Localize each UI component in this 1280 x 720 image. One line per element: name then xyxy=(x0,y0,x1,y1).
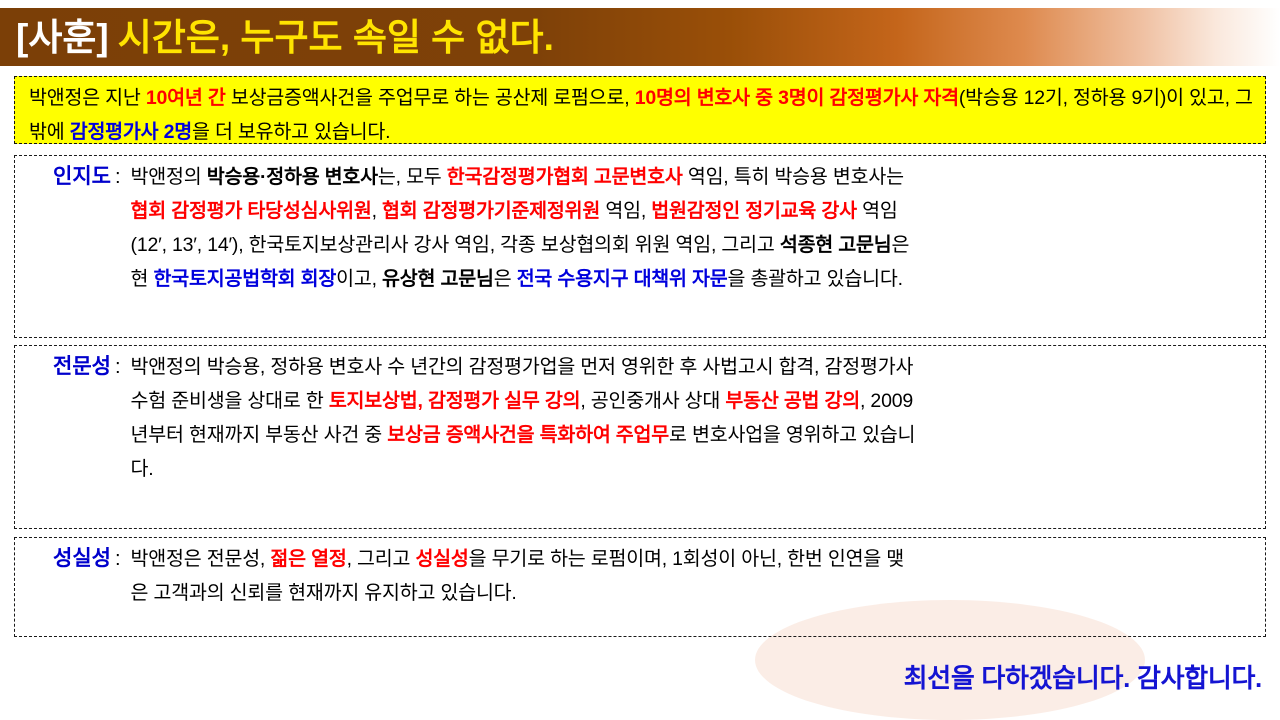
text-run: 로 변호사업을 영위하고 있습니 xyxy=(669,424,915,446)
criteria-colon-expertise: : xyxy=(115,350,131,384)
text-line: 현 한국토지공법학회 회장이고, 유상현 고문님은 전국 수용지구 대책위 자문… xyxy=(131,262,1255,296)
text-line: 박앤정의 박승용·정하용 변호사는, 모두 한국감정평가협회 고문변호사 역임,… xyxy=(131,160,1255,194)
text-run: 한국감정평가협회 고문변호사 xyxy=(447,166,683,188)
firm-summary-text: 박앤정은 지난 10여년 간 보상금증액사건을 주업무로 하는 공산제 로펌으로… xyxy=(29,81,1255,149)
text-run: 석종현 고문님 xyxy=(780,234,892,256)
page-title: [사훈]시간은, 누구도 속일 수 없다. xyxy=(0,19,554,56)
criteria-label-recognition: 인지도 xyxy=(27,160,115,194)
text-line: 박앤정의 박승용, 정하용 변호사 수 년간의 감정평가업을 먼저 영위한 후 … xyxy=(131,350,1255,384)
text-run: 박앤정은 전문성, xyxy=(131,548,271,570)
text-run: 협회 감정평가 타당성심사위원 xyxy=(131,200,372,222)
text-line: 박앤정은 전문성, 젊은 열정, 그리고 성실성을 무기로 하는 로펌이며, 1… xyxy=(131,542,1255,576)
text-run: 10여년 간 xyxy=(146,87,226,109)
text-run: 년부터 현재까지 부동산 사건 중 xyxy=(131,424,388,446)
text-line: (12′, 13′, 14′), 한국토지보상관리사 강사 역임, 각종 보상협… xyxy=(131,228,1255,262)
closing-statement: 최선을 다하겠습니다. 감사합니다. xyxy=(904,658,1262,695)
text-run: 법원감정인 정기교육 강사 xyxy=(651,200,857,222)
text-run: 유상현 고문님 xyxy=(382,268,494,290)
slide-canvas: [사훈]시간은, 누구도 속일 수 없다. 박앤정은 지난 10여년 간 보상금… xyxy=(0,0,1280,720)
criteria-box-recognition: 인지도 : 박앤정의 박승용·정하용 변호사는, 모두 한국감정평가협회 고문변… xyxy=(14,155,1266,338)
text-line: 은 고객과의 신뢰를 현재까지 유지하고 있습니다. xyxy=(131,576,1255,610)
text-run: 역임 xyxy=(857,200,898,222)
text-run: 사 자격 xyxy=(900,87,958,109)
text-run: 감정평가사 2명 xyxy=(70,121,192,143)
text-run: 현 xyxy=(131,268,154,290)
text-run: 을 무기로 하는 로펌이며, 1회성이 아닌, 한번 인연을 맺 xyxy=(469,548,904,570)
criteria-box-expertise: 전문성 : 박앤정의 박승용, 정하용 변호사 수 년간의 감정평가업을 먼저 … xyxy=(14,345,1266,529)
text-run: 젊은 열정 xyxy=(270,548,346,570)
title-bracket-label: [사훈] xyxy=(16,17,109,58)
criteria-colon-sincerity: : xyxy=(115,542,131,576)
criteria-colon-recognition: : xyxy=(115,160,131,194)
firm-summary-callout: 박앤정은 지난 10여년 간 보상금증액사건을 주업무로 하는 공산제 로펌으로… xyxy=(14,76,1266,144)
header-banner: [사훈]시간은, 누구도 속일 수 없다. xyxy=(0,8,1280,66)
text-run: 보상금증액사건을 주업무로 하는 공산제 로펌으로, xyxy=(226,87,635,109)
text-run: (12′, 13′, 14′), 한국토지보상관리사 강사 역임, 각종 보상협… xyxy=(131,234,780,256)
text-run: 박앤정의 xyxy=(131,166,207,188)
text-run: 부동산 공법 강의 xyxy=(725,390,860,412)
text-run: , 공인중개사 상대 xyxy=(580,390,725,412)
text-run: 은 고객과의 신뢰를 현재까지 유지하고 있습니다. xyxy=(131,582,517,604)
text-run: 은 xyxy=(892,234,910,256)
text-run: 보상금 증액사건을 특화하여 주업무 xyxy=(387,424,669,446)
text-line: 협회 감정평가 타당성심사위원, 협회 감정평가기준제정위원 역임, 법원감정인… xyxy=(131,194,1255,228)
text-line: 년부터 현재까지 부동산 사건 중 보상금 증액사건을 특화하여 주업무로 변호… xyxy=(131,418,1255,452)
criteria-body-sincerity: 박앤정은 전문성, 젊은 열정, 그리고 성실성을 무기로 하는 로펌이며, 1… xyxy=(131,542,1255,610)
text-run: 이고, xyxy=(336,268,382,290)
text-run: 다. xyxy=(131,458,154,480)
text-line: 다. xyxy=(131,452,1255,486)
criteria-label-expertise: 전문성 xyxy=(27,350,115,384)
text-run: 는, 모두 xyxy=(378,166,447,188)
text-run: 한국토지공법학회 회장 xyxy=(154,268,337,290)
criteria-label-sincerity: 성실성 xyxy=(27,542,115,576)
title-motto: 시간은, 누구도 속일 수 없다. xyxy=(118,17,554,58)
text-run: 을 더 보유하고 있습니다. xyxy=(192,121,390,143)
text-run: 성실성 xyxy=(415,548,468,570)
text-line: 수험 준비생을 상대로 한 토지보상법, 감정평가 실무 강의, 공인중개사 상… xyxy=(131,384,1255,418)
text-run: 역임, xyxy=(600,200,651,222)
text-run: 은 xyxy=(494,268,517,290)
text-run: 전국 수용지구 대책위 자문 xyxy=(517,268,728,290)
text-run: , 그리고 xyxy=(347,548,416,570)
text-run: , xyxy=(372,200,382,222)
text-run: 을 총괄하고 있습니다. xyxy=(727,268,902,290)
text-run: , 2009 xyxy=(860,390,913,412)
text-run: 박앤정의 박승용, 정하용 변호사 수 년간의 감정평가업을 먼저 영위한 후 … xyxy=(131,356,914,378)
text-run: 수험 준비생을 상대로 한 xyxy=(131,390,329,412)
criteria-box-sincerity: 성실성 : 박앤정은 전문성, 젊은 열정, 그리고 성실성을 무기로 하는 로… xyxy=(14,537,1266,637)
text-run: 박승용·정하용 변호사 xyxy=(207,166,378,188)
text-run: 토지보상법, 감정평가 실무 강의 xyxy=(329,390,581,412)
text-run: 협회 감정평가기준제정위원 xyxy=(382,200,600,222)
criteria-body-recognition: 박앤정의 박승용·정하용 변호사는, 모두 한국감정평가협회 고문변호사 역임,… xyxy=(131,160,1255,296)
text-run: 박앤정은 지난 xyxy=(29,87,146,109)
text-run: 10명의 변호사 중 3명이 감정평가 xyxy=(635,87,901,109)
text-run: 역임, 특히 박승용 변호사는 xyxy=(683,166,904,188)
criteria-body-expertise: 박앤정의 박승용, 정하용 변호사 수 년간의 감정평가업을 먼저 영위한 후 … xyxy=(131,350,1255,486)
